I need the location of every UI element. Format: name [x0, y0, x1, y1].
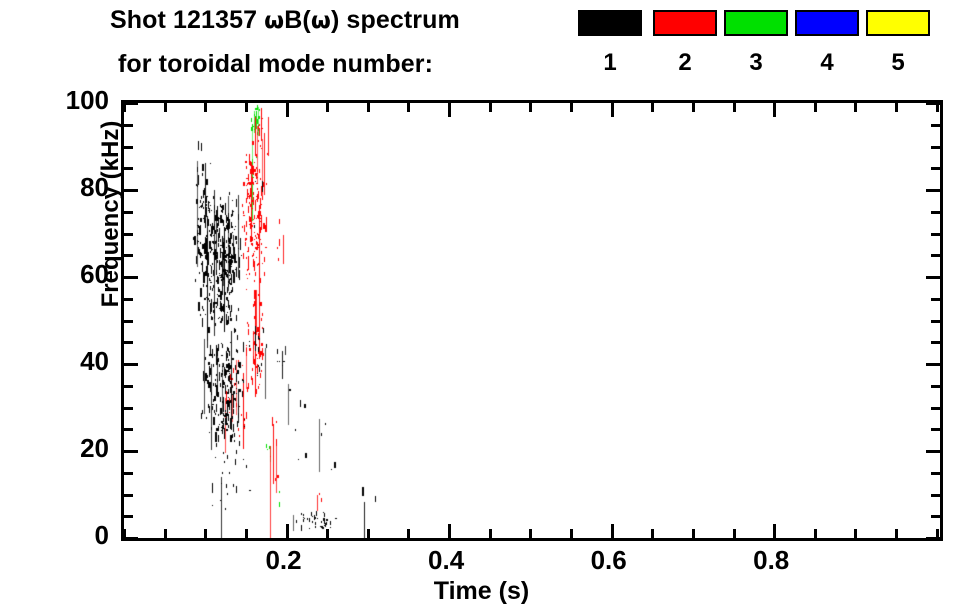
y-tick-minor-85 — [124, 167, 133, 170]
y-tick-major-80 — [124, 189, 138, 192]
y-tick-right-minor-90 — [931, 146, 940, 149]
x-tick-top-major-0.6 — [611, 103, 614, 117]
y-tick-minor-5 — [124, 515, 133, 518]
legend-item-1[interactable]: 1 — [578, 10, 642, 36]
x-tick-minor-0.85 — [814, 529, 817, 538]
y-tick-minor-15 — [124, 472, 133, 475]
y-tick-minor-70 — [124, 233, 133, 236]
x-tick-minor-0.55 — [570, 529, 573, 538]
x-tick-minor-0.95 — [895, 529, 898, 538]
x-tick-top-minor-0.05 — [164, 103, 167, 112]
x-tick-top-minor-0.5 — [529, 103, 532, 112]
y-tick-minor-25 — [124, 428, 133, 431]
x-tick-minor-0.65 — [651, 529, 654, 538]
x-tick-minor-0.9 — [854, 529, 857, 538]
legend-swatch-1 — [578, 10, 642, 36]
y-tick-right-minor-35 — [931, 385, 940, 388]
x-tick-minor-0.3 — [367, 529, 370, 538]
y-tick-right-minor-85 — [931, 167, 940, 170]
plot-frame — [121, 100, 943, 541]
x-tick-top-minor-0.85 — [814, 103, 817, 112]
spectrogram-figure: Shot 121357 ωB(ω) spectrum for toroidal … — [0, 0, 963, 615]
legend-label-4: 4 — [795, 50, 859, 76]
x-tick-top-minor-0.25 — [326, 103, 329, 112]
x-tick-label-0.6: 0.6 — [564, 547, 654, 573]
x-tick-minor-1 — [936, 529, 939, 538]
x-tick-major-0.8 — [773, 524, 776, 538]
x-tick-top-major-0.2 — [286, 103, 289, 117]
legend-label-3: 3 — [724, 50, 788, 76]
y-tick-right-major-20 — [926, 450, 940, 453]
y-tick-label-0: 0 — [45, 522, 109, 548]
x-tick-label-0.2: 0.2 — [239, 547, 329, 573]
y-tick-right-minor-50 — [931, 320, 940, 323]
x-tick-minor-0.1 — [204, 529, 207, 538]
y-tick-right-major-40 — [926, 363, 940, 366]
x-tick-minor-0.25 — [326, 529, 329, 538]
figure-title-line-2: for toroidal mode number: — [118, 50, 433, 79]
legend-item-3[interactable]: 3 — [724, 10, 788, 36]
x-tick-top-minor-0.1 — [204, 103, 207, 112]
x-tick-top-minor-0.65 — [651, 103, 654, 112]
x-tick-minor-0.05 — [164, 529, 167, 538]
x-tick-minor-0.15 — [245, 529, 248, 538]
y-tick-major-60 — [124, 276, 138, 279]
omega-glyph: ω — [311, 8, 331, 34]
x-tick-top-minor-0.15 — [245, 103, 248, 112]
legend-label-2: 2 — [653, 50, 717, 76]
y-tick-minor-10 — [124, 494, 133, 497]
x-tick-label-0.4: 0.4 — [401, 547, 491, 573]
x-tick-top-minor-0.55 — [570, 103, 573, 112]
y-tick-minor-95 — [124, 124, 133, 127]
y-tick-right-minor-70 — [931, 233, 940, 236]
x-tick-top-minor-1 — [936, 103, 939, 112]
y-tick-label-20: 20 — [45, 435, 109, 461]
x-tick-minor-0.35 — [407, 529, 410, 538]
x-axis-title: Time (s) — [0, 577, 963, 606]
y-tick-label-40: 40 — [45, 348, 109, 374]
x-tick-minor-0 — [123, 529, 126, 538]
y-tick-major-20 — [124, 450, 138, 453]
omega-glyph: ω — [264, 8, 284, 34]
x-tick-top-minor-0.3 — [367, 103, 370, 112]
y-tick-minor-45 — [124, 341, 133, 344]
x-tick-major-0.6 — [611, 524, 614, 538]
x-tick-minor-0.5 — [529, 529, 532, 538]
x-tick-top-minor-0.7 — [692, 103, 695, 112]
figure-title-line-1: Shot 121357 ωB(ω) spectrum — [110, 6, 460, 35]
x-tick-label-0.8: 0.8 — [726, 547, 816, 573]
y-tick-minor-55 — [124, 298, 133, 301]
y-tick-right-major-80 — [926, 189, 940, 192]
x-tick-minor-0.7 — [692, 529, 695, 538]
y-tick-minor-65 — [124, 254, 133, 257]
x-tick-top-minor-0.35 — [407, 103, 410, 112]
x-tick-top-minor-0.75 — [733, 103, 736, 112]
legend-label-1: 1 — [578, 50, 642, 76]
legend-item-2[interactable]: 2 — [653, 10, 717, 36]
y-tick-right-minor-10 — [931, 494, 940, 497]
legend: 12345 — [578, 10, 938, 88]
legend-swatch-2 — [653, 10, 717, 36]
x-tick-top-minor-0.9 — [854, 103, 857, 112]
legend-swatch-4 — [795, 10, 859, 36]
y-tick-right-minor-30 — [931, 407, 940, 410]
x-tick-minor-0.45 — [489, 529, 492, 538]
x-tick-major-0.4 — [448, 524, 451, 538]
y-tick-right-minor-95 — [931, 124, 940, 127]
y-tick-right-minor-75 — [931, 211, 940, 214]
y-tick-minor-75 — [124, 211, 133, 214]
y-tick-right-minor-65 — [931, 254, 940, 257]
legend-label-5: 5 — [866, 50, 930, 76]
x-tick-minor-0.75 — [733, 529, 736, 538]
x-tick-top-minor-0.95 — [895, 103, 898, 112]
y-tick-right-major-60 — [926, 276, 940, 279]
y-tick-major-100 — [124, 102, 138, 105]
y-tick-right-minor-25 — [931, 428, 940, 431]
y-tick-right-minor-5 — [931, 515, 940, 518]
y-tick-minor-90 — [124, 146, 133, 149]
y-tick-major-0 — [124, 537, 138, 540]
legend-swatch-3 — [724, 10, 788, 36]
x-tick-top-minor-0.45 — [489, 103, 492, 112]
y-tick-right-minor-15 — [931, 472, 940, 475]
x-tick-major-0.2 — [286, 524, 289, 538]
y-axis-title: Frequency (kHz) — [97, 94, 125, 334]
y-tick-major-40 — [124, 363, 138, 366]
y-tick-right-minor-45 — [931, 341, 940, 344]
spectrogram-canvas — [124, 103, 940, 538]
legend-item-5[interactable]: 5 — [866, 10, 930, 36]
y-tick-minor-50 — [124, 320, 133, 323]
y-tick-right-minor-55 — [931, 298, 940, 301]
legend-swatch-5 — [866, 10, 930, 36]
x-tick-top-major-0.8 — [773, 103, 776, 117]
x-tick-top-major-0.4 — [448, 103, 451, 117]
y-tick-minor-35 — [124, 385, 133, 388]
y-tick-minor-30 — [124, 407, 133, 410]
legend-item-4[interactable]: 4 — [795, 10, 859, 36]
